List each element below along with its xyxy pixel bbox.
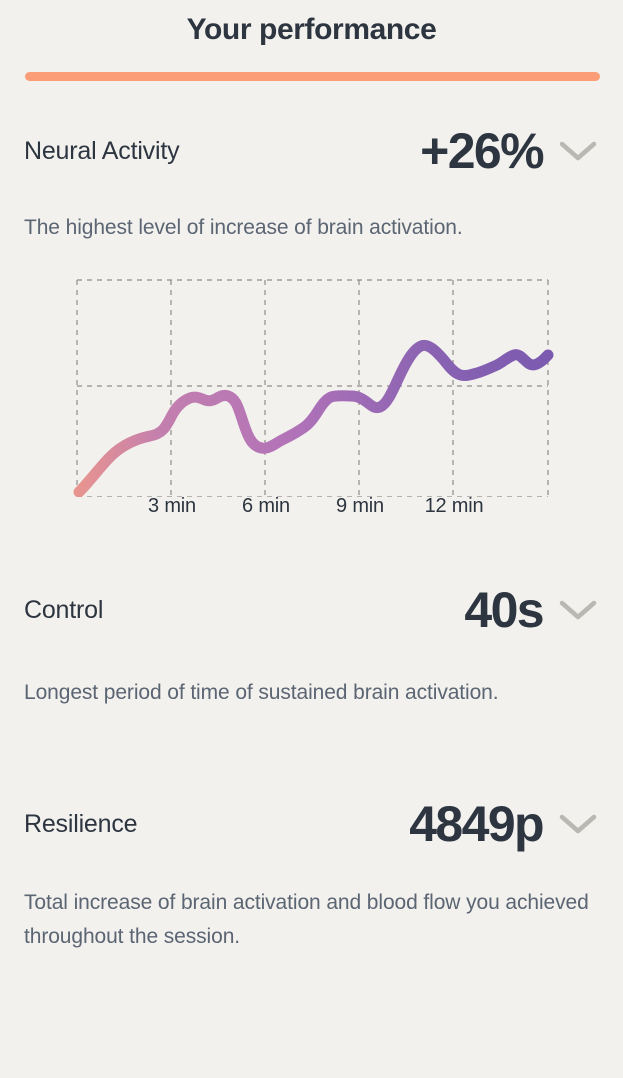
metric-header-neural-activity[interactable]: Neural Activity +26% (24, 121, 599, 181)
metric-value-group-control: 40s (464, 585, 599, 635)
metric-header-control[interactable]: Control 40s (24, 580, 599, 640)
chart-x-axis-labels: 3 min 6 min 9 min 12 min (0, 495, 623, 523)
spacer-after-chart (0, 522, 623, 580)
metric-section-resilience: Resilience 4849p Total increase of brain… (0, 794, 623, 954)
spacer-top (0, 81, 623, 121)
spacer-control (24, 640, 599, 676)
metric-section-neural-activity: Neural Activity +26% The highest level o… (0, 121, 623, 245)
metric-description-neural-activity: The highest level of increase of brain a… (24, 211, 594, 245)
metric-value-control: 40s (464, 585, 543, 635)
metric-label-neural-activity: Neural Activity (24, 137, 179, 166)
chevron-down-icon[interactable] (557, 811, 599, 837)
chart-line-series (79, 345, 548, 492)
chevron-down-icon[interactable] (557, 597, 599, 623)
x-tick-label-1: 6 min (242, 495, 290, 518)
chart-canvas (0, 267, 623, 497)
x-tick-label-3: 12 min (425, 495, 484, 518)
neural-activity-chart: 3 min 6 min 9 min 12 min (0, 267, 623, 522)
metric-label-control: Control (24, 596, 103, 625)
x-tick-label-2: 9 min (336, 495, 384, 518)
spacer-after-control (0, 710, 623, 794)
metric-label-resilience: Resilience (24, 810, 137, 839)
page-title: Your performance (0, 0, 623, 48)
x-tick-label-0: 3 min (148, 495, 196, 518)
chevron-down-icon[interactable] (557, 138, 599, 164)
metric-header-resilience[interactable]: Resilience 4849p (24, 794, 599, 854)
metric-value-group-resilience: 4849p (409, 799, 599, 849)
spacer-neural (24, 181, 599, 211)
metric-description-control: Longest period of time of sustained brai… (24, 676, 524, 710)
chart-gridlines (77, 280, 548, 497)
accent-divider-bar (25, 72, 600, 81)
metric-section-control: Control 40s Longest period of time of su… (0, 580, 623, 710)
metric-value-resilience: 4849p (409, 799, 543, 849)
spacer-resilience (24, 854, 599, 886)
metric-value-neural-activity: +26% (420, 126, 543, 176)
metric-value-group-neural-activity: +26% (420, 126, 599, 176)
metric-description-resilience: Total increase of brain activation and b… (24, 886, 594, 954)
